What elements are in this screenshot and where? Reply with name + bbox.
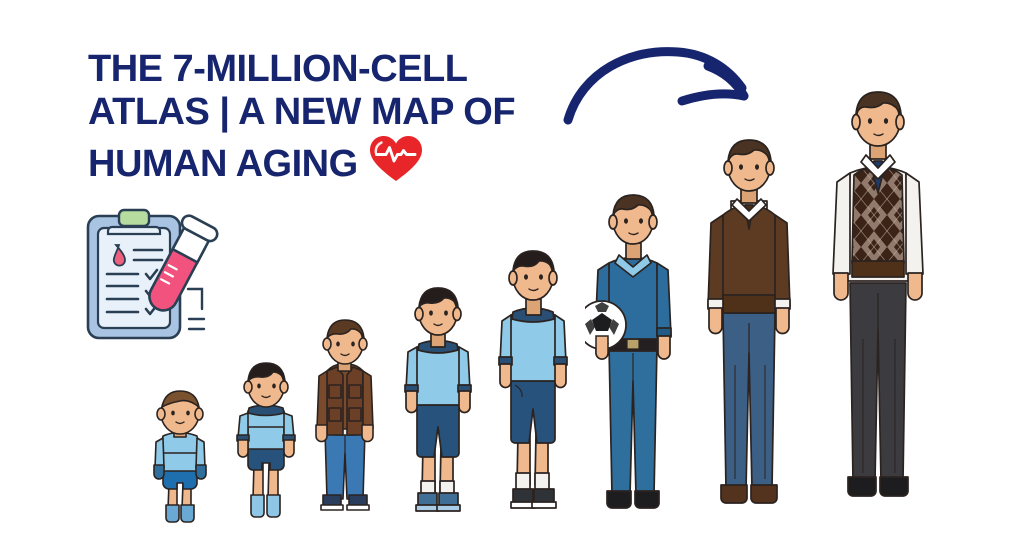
figure-preteen — [395, 277, 479, 530]
title-line-3-text: HUMAN AGING — [88, 143, 358, 185]
heart-pulse-icon — [368, 134, 424, 194]
figure-toddler — [228, 353, 302, 530]
figure-adult — [697, 135, 801, 530]
curved-arrow-icon — [560, 38, 770, 133]
poster-canvas: THE 7-MILLION-CELL ATLAS | A NEW MAP OF … — [0, 0, 1024, 538]
clipboard-test-tube-icon — [76, 206, 226, 351]
figure-young-adult — [585, 185, 681, 530]
figure-baby — [143, 383, 215, 530]
figure-senior — [822, 87, 934, 530]
title-line-3: HUMAN AGING — [88, 134, 648, 194]
figure-teen — [488, 237, 576, 530]
figure-child — [305, 313, 385, 530]
